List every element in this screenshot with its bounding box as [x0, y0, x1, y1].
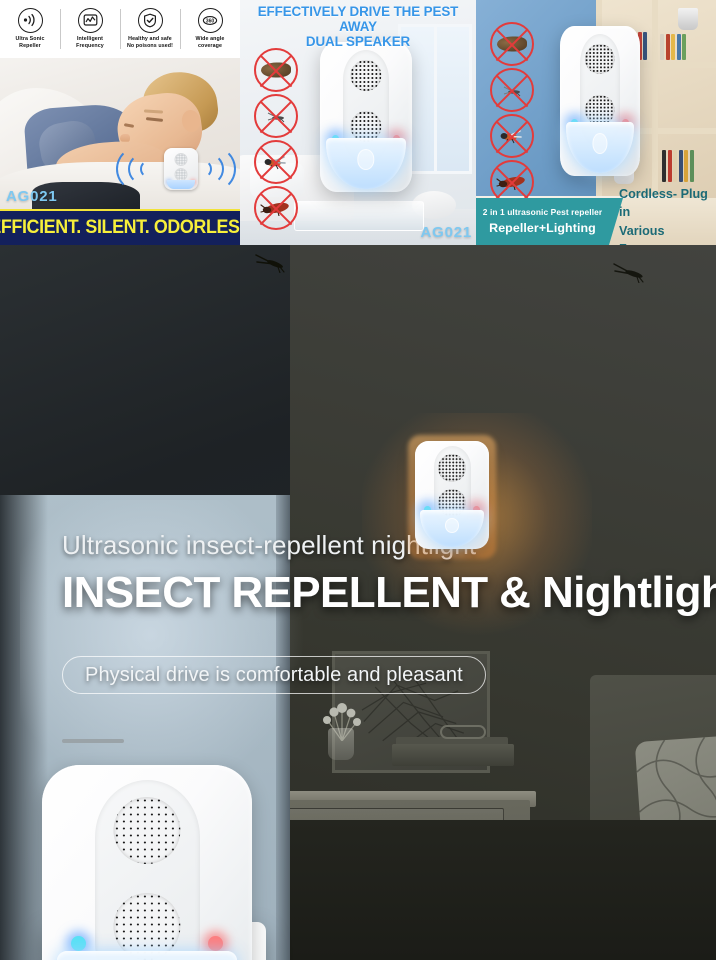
- tag-line-1: Cordless- Plug in: [619, 185, 716, 222]
- mosquito-silhouette: [612, 261, 646, 288]
- feature-ultra-sonic-repeller: Ultra Sonic Repeller: [0, 0, 60, 58]
- pest-no-cockroach-icon: [254, 186, 298, 230]
- pest-icon-column-right: [490, 22, 534, 206]
- efficient-silent-odorless-banner: EFFICIENT. SILENT. ODORLESS: [0, 209, 240, 245]
- 360-degree-icon: 360: [198, 8, 223, 33]
- pest-no-mouse-icon: [490, 22, 534, 66]
- feature-icon-row: Ultra Sonic Repeller Intelligent Frequen…: [0, 0, 240, 58]
- feature-label: Ultra Sonic Repeller: [15, 36, 44, 50]
- hero-tagline-text: Physical drive is comfortable and pleasa…: [85, 664, 463, 687]
- frequency-waveform-icon: [78, 8, 103, 33]
- tag-line-2: Repeller+Lighting: [489, 219, 596, 238]
- panel-sleeping-child: Ultra Sonic Repeller Intelligent Frequen…: [0, 0, 240, 245]
- feature-label: Healthy and safe No poisons used!: [127, 36, 173, 50]
- pest-no-mosquito-icon: [490, 68, 534, 112]
- ultrasonic-wave-icon: [18, 8, 43, 33]
- pest-no-mosquito-icon: [254, 94, 298, 138]
- shield-check-icon: [138, 8, 163, 33]
- svg-text:360: 360: [206, 18, 215, 24]
- banner-text: EFFICIENT. SILENT. ODORLESS: [0, 217, 240, 239]
- panel-living-room: EFFECTIVELY DRIVE THE PEST AWAY DUAL SPE…: [240, 0, 476, 245]
- device-main-illustration: [42, 765, 252, 960]
- mosquito-silhouette: [255, 251, 287, 278]
- hero-title: INSECT REPELLENT & Nightlight: [62, 568, 716, 618]
- hero-section: SIEMENS Ultrasonic insect-repellent nigh…: [0, 245, 716, 960]
- panel-middle-headline: EFFECTIVELY DRIVE THE PEST AWAY DUAL SPE…: [240, 4, 476, 49]
- eyeglasses: [440, 725, 486, 739]
- hero-title-part2: Nightlight: [542, 568, 716, 617]
- upper-speaker-grille: [113, 797, 180, 864]
- hero-tagline-pill: Physical drive is comfortable and pleasa…: [62, 656, 486, 694]
- device-on-bedroom-wall: [415, 441, 489, 549]
- model-code-middle: AG021: [420, 224, 472, 241]
- nightlight-panel: [57, 951, 238, 960]
- tag-cordless-frequency: Cordless- Plug in Various Frequency: [609, 198, 716, 245]
- feature-healthy-and-safe: Healthy and safe No poisons used!: [120, 0, 180, 58]
- top-panel-strip: Ultra Sonic Repeller Intelligent Frequen…: [0, 0, 716, 245]
- red-led-indicator: [208, 936, 223, 951]
- device-illustration-right: [560, 26, 640, 176]
- pest-no-mouse-icon: [254, 48, 298, 92]
- tag-line-1: 2 in 1 ultrasonic Pest repeller: [483, 206, 602, 219]
- tag-2in1-repeller: 2 in 1 ultrasonic Pest repeller Repeller…: [476, 198, 609, 245]
- feature-intelligent-frequency: Intelligent Frequency: [60, 0, 120, 58]
- pest-icon-column-middle: [254, 48, 298, 232]
- model-code-left: AG021: [6, 188, 58, 205]
- feature-label: Intelligent Frequency: [76, 36, 104, 50]
- pest-no-fly-icon: [490, 114, 534, 158]
- device-illustration-middle: [320, 42, 412, 192]
- pest-no-fly-icon: [254, 140, 298, 184]
- tag-line-2: Various Frequency: [619, 222, 716, 246]
- mini-device-illustration: [164, 148, 198, 190]
- feature-label: Wide angle coverage: [196, 36, 225, 50]
- feature-tag-bar: 2 in 1 ultrasonic Pest repeller Repeller…: [476, 198, 716, 245]
- hero-title-part1: INSECT REPELLENT &: [62, 568, 542, 617]
- stack-of-books: [392, 744, 514, 766]
- lower-speaker-grille: [113, 893, 180, 960]
- hero-divider-rule: [62, 739, 124, 743]
- feature-wide-angle-coverage: 360 Wide angle coverage: [180, 0, 240, 58]
- product-marketing-image: Ultra Sonic Repeller Intelligent Frequen…: [0, 0, 716, 960]
- panel-blue-wall-room: 2 in 1 ultrasonic Pest repeller Repeller…: [476, 0, 716, 245]
